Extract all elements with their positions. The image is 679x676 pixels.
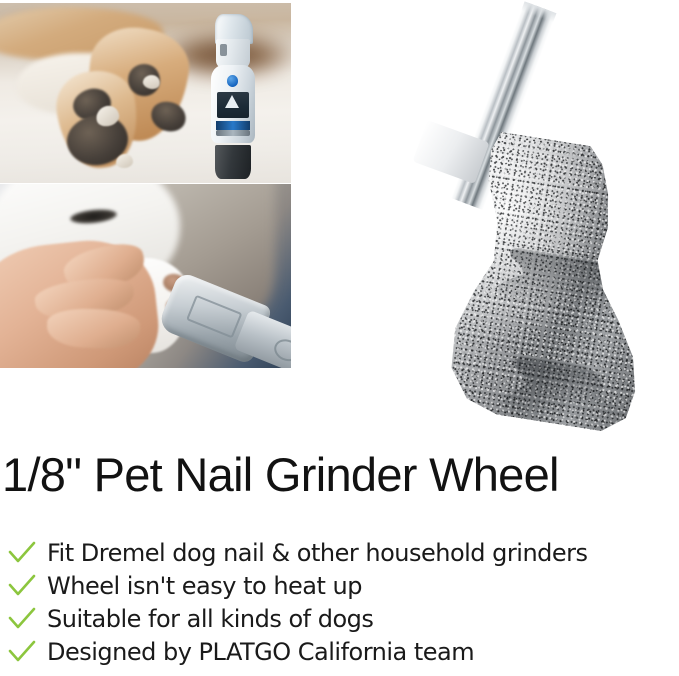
check-icon xyxy=(8,606,36,632)
grinder-bit-bell-body xyxy=(384,120,675,436)
grooming-photo xyxy=(0,184,291,368)
list-item: Wheel isn't easy to heat up xyxy=(8,569,668,602)
check-icon xyxy=(8,540,36,566)
feature-text: Designed by PLATGO California team xyxy=(47,638,474,666)
grinder-neck xyxy=(216,39,250,69)
check-icon xyxy=(8,573,36,599)
grinder-power-button xyxy=(227,75,238,87)
check-icon xyxy=(8,639,36,665)
grinder-brand-label xyxy=(217,92,249,118)
grinder-grip-ring xyxy=(216,130,250,137)
feature-list: Fit Dremel dog nail & other household gr… xyxy=(8,536,668,668)
hero-product-image xyxy=(300,0,679,430)
feature-text: Fit Dremel dog nail & other household gr… xyxy=(47,539,588,567)
grinder-base xyxy=(215,145,251,180)
list-item: Suitable for all kinds of dogs xyxy=(8,602,668,635)
product-title: 1/8" Pet Nail Grinder Wheel xyxy=(2,449,679,501)
nail-grinder-device xyxy=(208,14,257,180)
list-item: Fit Dremel dog nail & other household gr… xyxy=(8,536,668,569)
grinder-bit-head xyxy=(384,120,675,436)
dog-paws-photo xyxy=(0,3,291,183)
product-infographic: 1/8" Pet Nail Grinder Wheel Fit Dremel d… xyxy=(0,0,679,676)
feature-text: Suitable for all kinds of dogs xyxy=(47,605,373,633)
list-item: Designed by PLATGO California team xyxy=(8,635,668,668)
grinder-blue-strip xyxy=(216,121,250,129)
feature-text: Wheel isn't easy to heat up xyxy=(47,572,362,600)
